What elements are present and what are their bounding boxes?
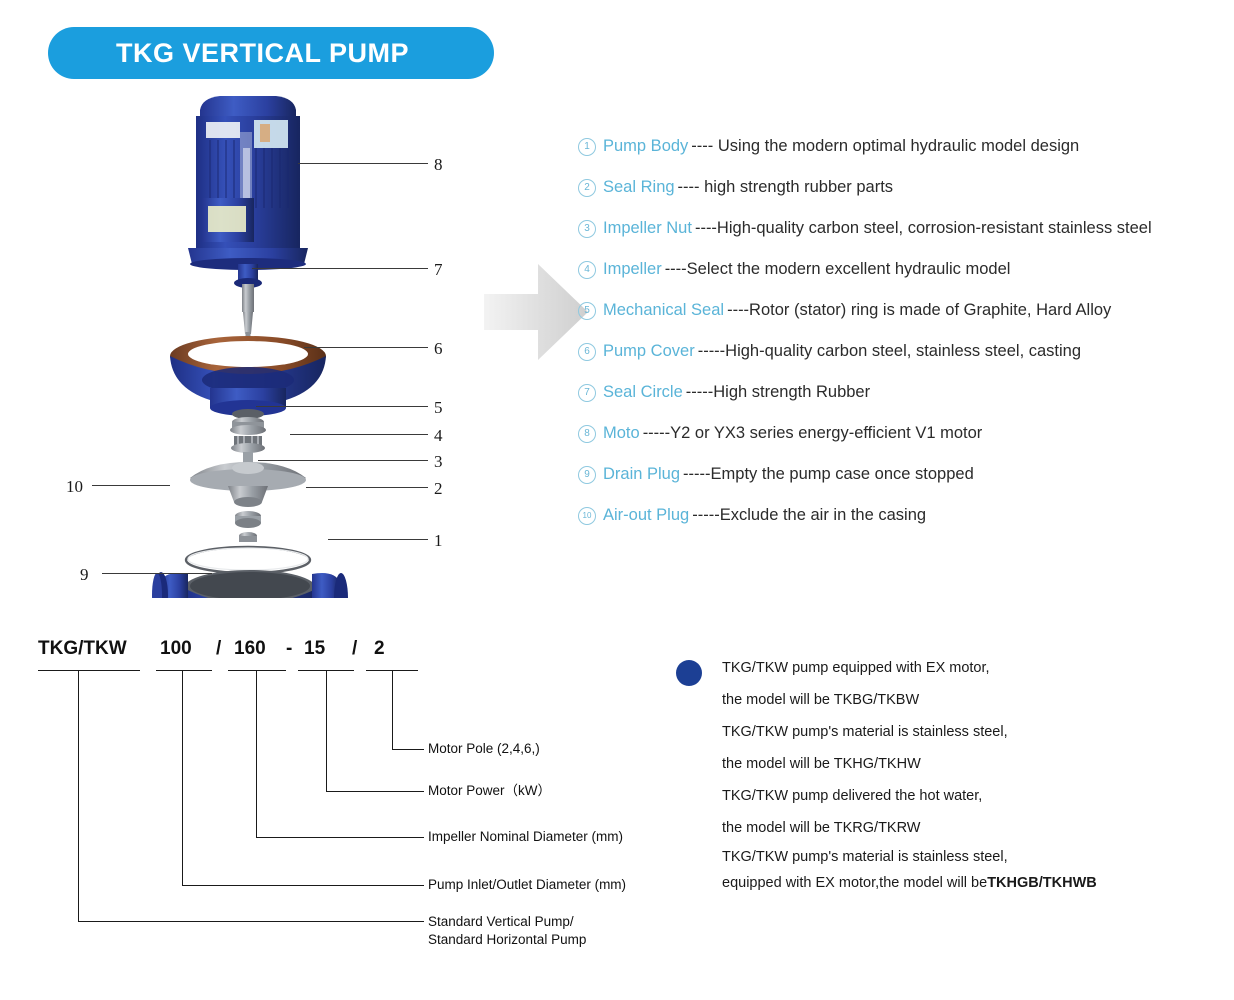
legend-item-impeller: 4 Impeller ----Select the modern excelle… <box>578 249 1228 290</box>
leader-label-inlet-dia-text: Pump Inlet/Outlet Diameter (mm) <box>428 877 626 892</box>
model-code-separator-slash2: / <box>352 638 357 660</box>
legend-number-icon-8: 8 <box>578 425 596 443</box>
legend-number-icon-7: 7 <box>578 384 596 402</box>
legend-part-name: Moto <box>603 424 640 443</box>
leader-horizontal-motor-power <box>326 791 424 792</box>
callout-line-9 <box>102 573 212 574</box>
leader-horizontal-impeller-dia <box>256 837 424 838</box>
leader-vertical-impeller-dia <box>256 670 257 838</box>
bullet-dot-icon <box>676 660 702 686</box>
model-code-segment-series: TKG/TKW <box>38 638 127 660</box>
leader-label-impeller-dia-text: Impeller Nominal Diameter (mm) <box>428 829 623 844</box>
legend-part-desc: -----Exclude the air in the casing <box>692 506 926 525</box>
legend-number-icon-2: 2 <box>578 179 596 197</box>
legend-part-desc: ----Rotor (stator) ring is made of Graph… <box>727 301 1111 320</box>
model-code-segment-impeller: 160 <box>234 638 266 660</box>
legend-part-desc: -----High strength Rubber <box>686 383 870 402</box>
callout-number-3: 3 <box>434 453 443 470</box>
model-code-separator-dash: - <box>286 638 292 660</box>
legend-item-mechanical-seal: 5 Mechanical Seal ----Rotor (stator) rin… <box>578 290 1228 331</box>
exploded-pump-diagram: 8 7 6 5 4 3 2 1 10 9 <box>60 88 480 598</box>
model-code-segment-inlet: 100 <box>160 638 192 660</box>
leader-label-inlet-dia: Pump Inlet/Outlet Diameter (mm) <box>428 876 626 894</box>
legend-item-pump-cover: 6 Pump Cover -----High-quality carbon st… <box>578 331 1228 372</box>
legend-part-desc: ----Select the modern excellent hydrauli… <box>665 260 1011 279</box>
legend-item-seal-ring: 2 Seal Ring ---- high strength rubber pa… <box>578 167 1228 208</box>
callout-number-9: 9 <box>80 566 89 583</box>
leader-label-standard-pump: Standard Vertical Pump/ Standard Horizon… <box>428 913 586 949</box>
legend-part-name: Impeller <box>603 260 662 279</box>
parts-legend-list: 1 Pump Body ---- Using the modern optima… <box>578 126 1228 536</box>
motor-part <box>188 96 308 270</box>
note-line: the model will be TKBG/TKBW <box>722 684 1216 716</box>
notes-lines: TKG/TKW pump equipped with EX motor, the… <box>722 652 1216 896</box>
model-code-underline-inlet <box>156 670 212 671</box>
callout-number-1: 1 <box>434 532 443 549</box>
legend-item-moto: 8 Moto -----Y2 or YX3 series energy-effi… <box>578 413 1228 454</box>
legend-part-desc: -----Empty the pump case once stopped <box>683 465 974 484</box>
model-variants-notes: TKG/TKW pump equipped with EX motor, the… <box>676 652 1216 896</box>
leader-label-standard-pump-line2: Standard Horizontal Pump <box>428 931 586 949</box>
leader-label-standard-pump-line1: Standard Vertical Pump/ <box>428 913 586 931</box>
note-line: TKG/TKW pump's material is stainless ste… <box>722 716 1216 748</box>
leader-label-motor-power: Motor Power（kW） <box>428 782 551 800</box>
callout-line-5 <box>256 406 428 407</box>
note-line: TKG/TKW pump delivered the hot water, <box>722 780 1216 812</box>
page-title-banner: TKG VERTICAL PUMP <box>48 27 494 79</box>
model-code-segment-power: 15 <box>304 638 325 660</box>
legend-part-desc: ---- high strength rubber parts <box>678 178 894 197</box>
callout-line-10 <box>92 485 170 486</box>
callout-number-7: 7 <box>434 261 443 278</box>
impeller-nut-part <box>235 511 261 542</box>
leader-horizontal-motor-pole <box>392 749 424 750</box>
callout-number-5: 5 <box>434 399 443 416</box>
legend-number-icon-9: 9 <box>578 466 596 484</box>
page-title: TKG VERTICAL PUMP <box>116 38 409 69</box>
legend-part-name: Pump Body <box>603 137 688 156</box>
legend-part-desc: -----High-quality carbon steel, stainles… <box>698 342 1081 361</box>
legend-part-name: Seal Circle <box>603 383 683 402</box>
flow-arrow-icon <box>484 258 588 366</box>
leader-vertical-inlet-dia <box>182 670 183 886</box>
note-line: the model will be TKRG/TKRW <box>722 812 1216 844</box>
leader-label-impeller-dia: Impeller Nominal Diameter (mm) <box>428 828 623 846</box>
leader-vertical-motor-pole <box>392 670 393 750</box>
legend-number-icon-4: 4 <box>578 261 596 279</box>
leader-vertical-motor-power <box>326 670 327 792</box>
model-code-separator-slash1: / <box>216 638 221 660</box>
legend-item-drain-plug: 9 Drain Plug -----Empty the pump case on… <box>578 454 1228 495</box>
legend-item-pump-body: 1 Pump Body ---- Using the modern optima… <box>578 126 1228 167</box>
callout-line-7 <box>252 268 428 269</box>
mechanical-seal-part <box>230 417 266 466</box>
legend-part-desc: -----Y2 or YX3 series energy-efficient V… <box>643 424 983 443</box>
legend-part-name: Pump Cover <box>603 342 695 361</box>
callout-line-6 <box>304 347 428 348</box>
legend-part-name: Impeller Nut <box>603 219 692 238</box>
callout-line-4 <box>290 434 428 435</box>
callout-line-2 <box>306 487 428 488</box>
note-line-last-model: TKHGB/TKHWB <box>987 876 1097 891</box>
legend-part-desc: ----High-quality carbon steel, corrosion… <box>695 219 1152 238</box>
legend-number-icon-10: 10 <box>578 507 596 525</box>
legend-number-icon-1: 1 <box>578 138 596 156</box>
seal-ring-part <box>186 547 310 573</box>
legend-number-icon-6: 6 <box>578 343 596 361</box>
model-code-breakdown: TKG/TKW 100 / 160 - 15 / 2 Motor Pole (2… <box>30 628 630 958</box>
callout-number-2: 2 <box>434 480 443 497</box>
legend-part-name: Seal Ring <box>603 178 675 197</box>
callout-number-8: 8 <box>434 156 443 173</box>
note-line: TKG/TKW pump's material is stainless ste… <box>722 844 1216 870</box>
note-line-last: equipped with EX motor,the model will be… <box>722 870 1216 896</box>
legend-number-icon-3: 3 <box>578 220 596 238</box>
callout-number-10: 10 <box>66 478 83 495</box>
impeller-part <box>190 462 306 507</box>
callout-line-3 <box>258 460 428 461</box>
callout-line-8 <box>298 163 428 164</box>
note-line: the model will be TKHG/TKHW <box>722 748 1216 780</box>
leader-vertical-standard-pump <box>78 670 79 922</box>
note-line: TKG/TKW pump equipped with EX motor, <box>722 652 1216 684</box>
legend-item-air-out-plug: 10 Air-out Plug -----Exclude the air in … <box>578 495 1228 536</box>
pump-illustration <box>60 88 480 598</box>
callout-line-1 <box>328 539 428 540</box>
model-code-underline-series <box>38 670 140 671</box>
leader-horizontal-inlet-dia <box>182 885 424 886</box>
legend-part-name: Drain Plug <box>603 465 680 484</box>
leader-label-motor-power-text: Motor Power（kW） <box>428 783 551 798</box>
note-line-last-text: equipped with EX motor,the model will be <box>722 876 987 891</box>
callout-number-4: 4 <box>434 427 443 444</box>
leader-label-motor-pole: Motor Pole (2,4,6,) <box>428 740 540 758</box>
legend-item-impeller-nut: 3 Impeller Nut ----High-quality carbon s… <box>578 208 1228 249</box>
leader-horizontal-standard-pump <box>78 921 424 922</box>
legend-part-desc: ---- Using the modern optimal hydraulic … <box>691 137 1079 156</box>
callout-number-6: 6 <box>434 340 443 357</box>
legend-part-name: Air-out Plug <box>603 506 689 525</box>
legend-item-seal-circle: 7 Seal Circle -----High strength Rubber <box>578 372 1228 413</box>
legend-part-name: Mechanical Seal <box>603 301 724 320</box>
model-code-segment-pole: 2 <box>374 638 385 660</box>
pump-body-part <box>152 570 348 598</box>
leader-label-motor-pole-text: Motor Pole (2,4,6,) <box>428 741 540 756</box>
legend-number-icon-5: 5 <box>578 302 596 320</box>
